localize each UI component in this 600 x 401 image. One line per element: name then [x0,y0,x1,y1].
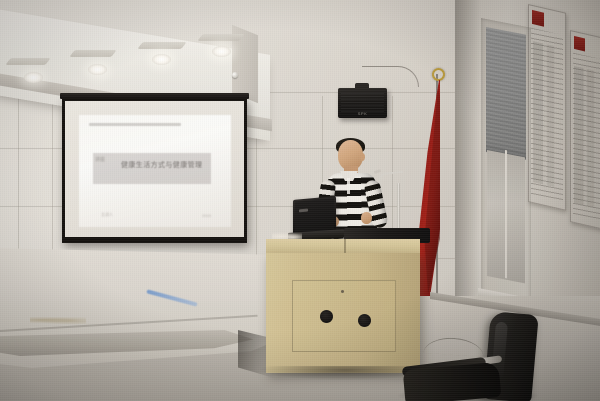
slide-footer-right: 2015 [202,213,211,218]
slide-header-rule [89,123,181,126]
wall-poster-right [570,30,600,230]
lectern-screw [341,290,344,293]
lecture-hall-photo: 讲座 健康生活方式与健康管理 主讲人 2015 SPK [0,0,600,401]
laptop-screen [295,198,334,232]
ceiling-slot-reveal [5,58,50,65]
smoke-detector-icon [232,72,238,78]
poster-header-band [574,36,586,52]
poster-header-band [532,10,544,27]
speaker-cable [362,66,419,87]
wall-mounted-speaker: SPK [338,88,387,118]
wall-poster-left [528,4,566,211]
window-mullion [505,150,507,278]
poster-text-blocks [574,66,598,208]
screen-bottom-bar [62,237,247,243]
slide-subtitle: 讲座 [95,156,105,163]
speaker-brand-label: SPK [358,111,368,116]
lectern-cable-hole [358,314,371,327]
recessed-downlight [212,46,231,57]
projected-slide: 讲座 健康生活方式与健康管理 主讲人 2015 [79,115,231,227]
window-blind[interactable] [486,27,526,160]
flag-finial-icon [432,68,445,81]
ceiling-slot-reveal [69,50,116,57]
blind-slats [486,27,526,160]
floor-scuff-marks [30,316,86,324]
lectern-cable-hole [320,310,333,323]
poster-text-blocks [533,41,558,188]
ceiling-slot-reveal [197,34,244,41]
projection-screen: 讲座 健康生活方式与健康管理 主讲人 2015 [62,98,247,243]
recessed-downlight [88,64,107,75]
speaker-grille [341,91,384,112]
recessed-downlight [152,54,171,65]
lectern-front-panel [292,280,396,352]
slide-footer-left: 主讲人 [101,212,113,218]
slide-title: 健康生活方式与健康管理 [121,161,217,170]
recessed-downlight [24,72,43,83]
presenter-ear [360,153,365,161]
presenter-shirt-placket [347,178,350,194]
screen-surface: 讲座 健康生活方式与健康管理 主讲人 2015 [65,101,244,239]
ceiling-slot-reveal [137,42,186,49]
presenter-right-hand [361,212,372,224]
